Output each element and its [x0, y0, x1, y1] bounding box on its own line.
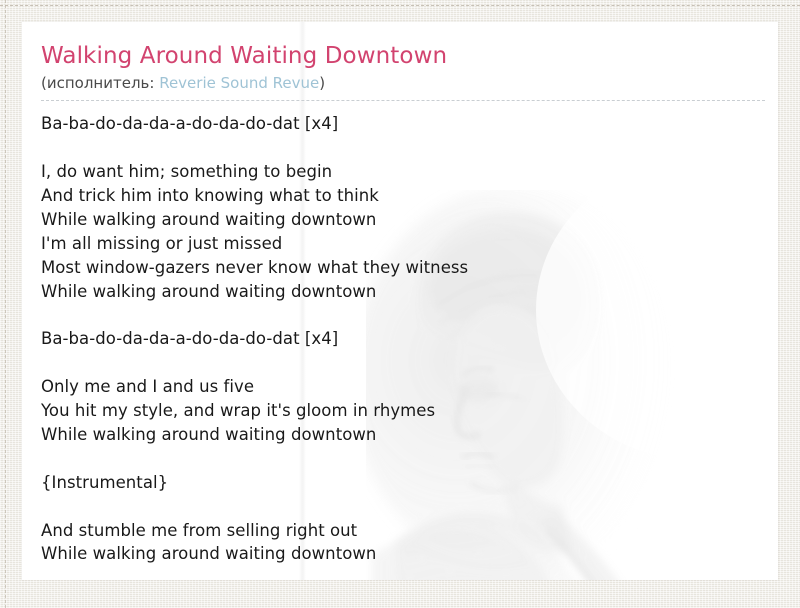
lyrics-body: Ba-ba-do-da-da-a-do-da-do-dat [x4] I, do…	[41, 112, 756, 566]
title-separator	[41, 100, 765, 101]
artist-prefix-label: (исполнитель:	[41, 74, 159, 92]
lyric-blank-line	[41, 447, 756, 471]
card-content: Walking Around Waiting Downtown (исполни…	[22, 22, 778, 566]
lyric-line: Most window-gazers never know what they …	[41, 256, 756, 280]
lyric-line: While walking around waiting downtown	[41, 280, 756, 304]
artist-line: (исполнитель: Reverie Sound Revue)	[41, 74, 756, 94]
lyric-line: And stumble me from selling right out	[41, 519, 756, 543]
lyric-line: While walking around waiting downtown	[41, 542, 756, 566]
lyrics-card: Walking Around Waiting Downtown (исполни…	[22, 22, 778, 580]
backdrop-top-dashed-rule	[0, 5, 800, 6]
lyric-line: While walking around waiting downtown	[41, 208, 756, 232]
lyric-line: {Instrumental}	[41, 471, 756, 495]
lyric-blank-line	[41, 303, 756, 327]
artist-suffix-label: )	[319, 74, 325, 92]
lyric-line: While walking around waiting downtown	[41, 423, 756, 447]
lyric-blank-line	[41, 136, 756, 160]
backdrop-left-dashed-rule	[5, 0, 6, 608]
lyric-line: I, do want him; something to begin	[41, 160, 756, 184]
lyric-line: You hit my style, and wrap it's gloom in…	[41, 399, 756, 423]
song-title: Walking Around Waiting Downtown	[41, 42, 756, 71]
lyric-blank-line	[41, 351, 756, 375]
lyric-line: I'm all missing or just missed	[41, 232, 756, 256]
lyric-blank-line	[41, 495, 756, 519]
lyric-line: And trick him into knowing what to think	[41, 184, 756, 208]
lyric-line: Ba-ba-do-da-da-a-do-da-do-dat [x4]	[41, 112, 756, 136]
lyric-line: Ba-ba-do-da-da-a-do-da-do-dat [x4]	[41, 327, 756, 351]
lyric-line: Only me and I and us five	[41, 375, 756, 399]
artist-link[interactable]: Reverie Sound Revue	[159, 74, 319, 92]
